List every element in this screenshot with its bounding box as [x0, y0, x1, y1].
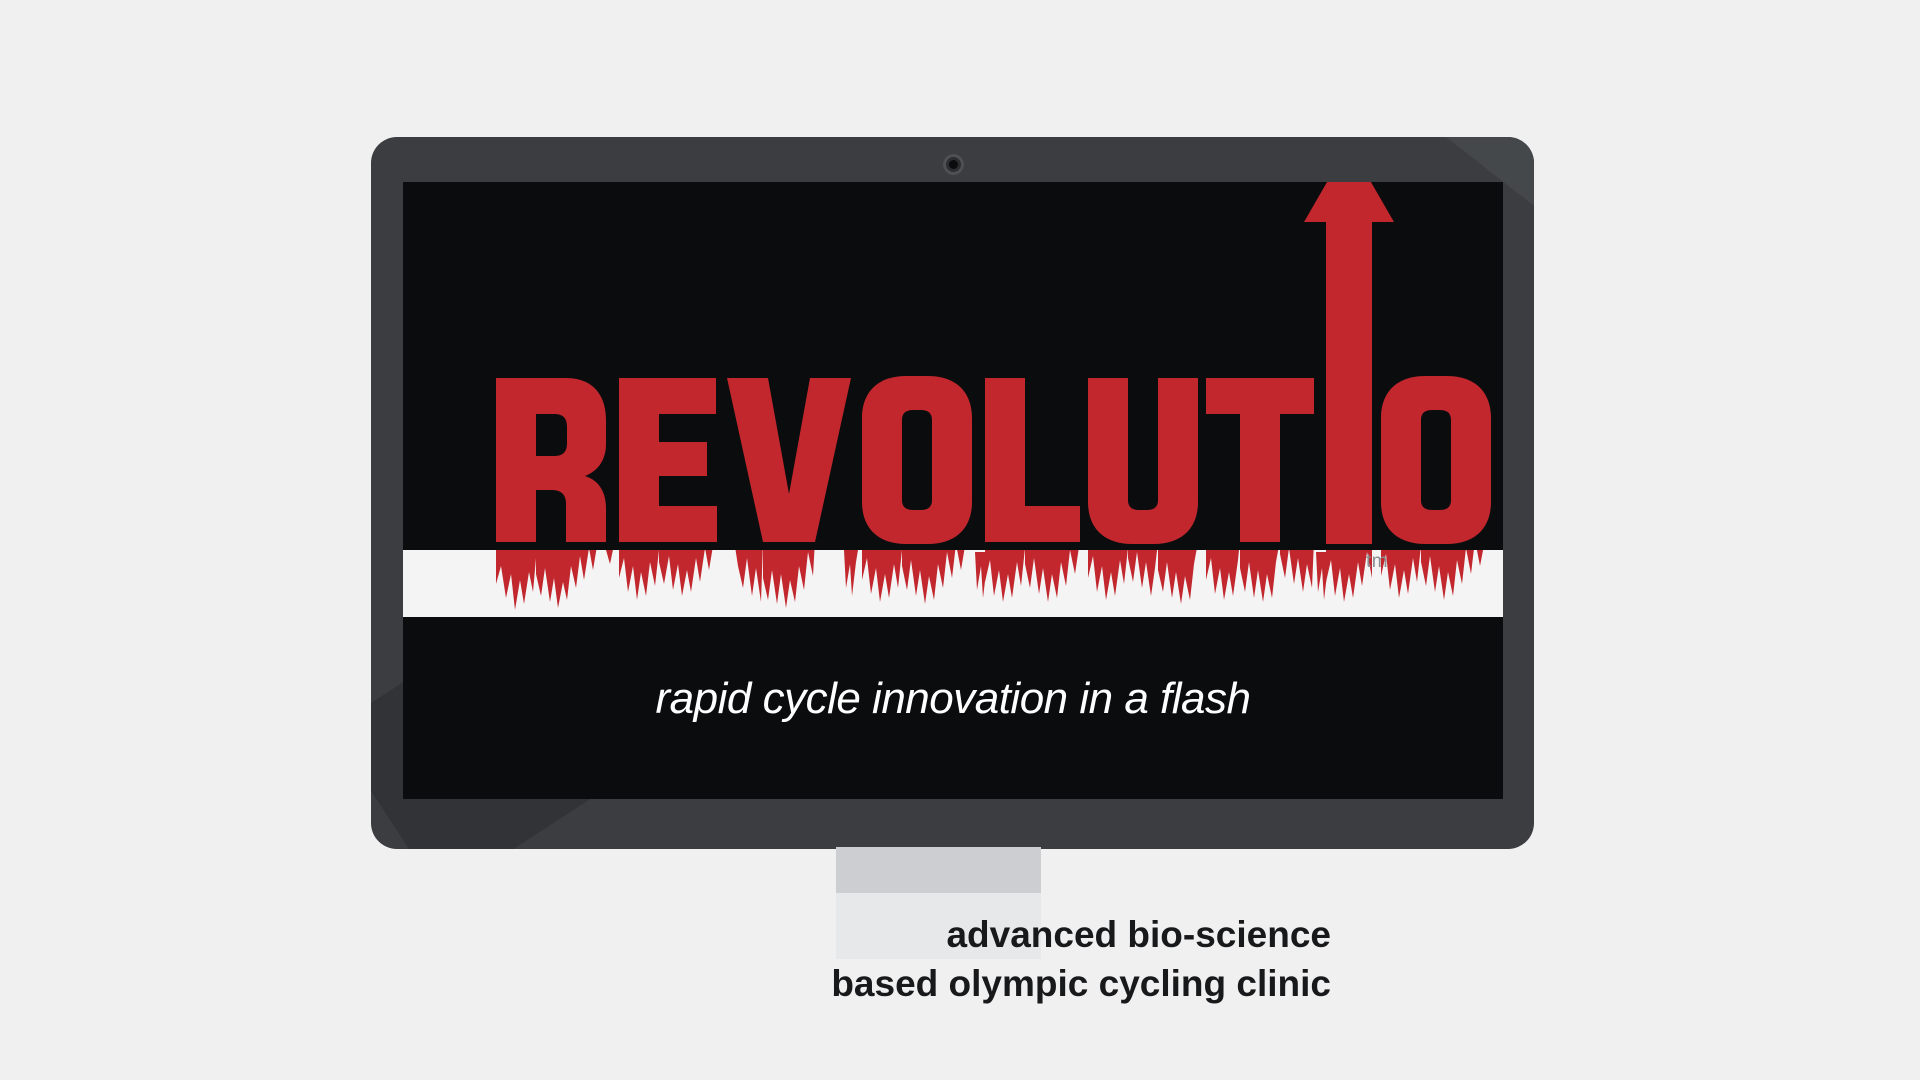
caption-line-1: advanced bio-science [831, 910, 1331, 959]
monitor-device: tm rapid cycle innovation in a flash [371, 137, 1534, 849]
presentation-stage: tm rapid cycle innovation in a flash adv… [0, 0, 1920, 1080]
revolutions-wordmark-svg [488, 352, 1428, 652]
monitor-screen: tm rapid cycle innovation in a flash [403, 182, 1503, 799]
webcam-icon [943, 154, 964, 175]
monitor-stand-neck [836, 847, 1041, 893]
caption-line-2: based olympic cycling clinic [831, 959, 1331, 1008]
trademark-symbol: tm [1366, 551, 1388, 573]
flame-drip-texture [496, 540, 1503, 610]
brand-tagline: rapid cycle innovation in a flash [403, 674, 1503, 724]
upward-arrow-icon [1304, 182, 1394, 544]
revolutions-logo: tm [488, 352, 1428, 652]
